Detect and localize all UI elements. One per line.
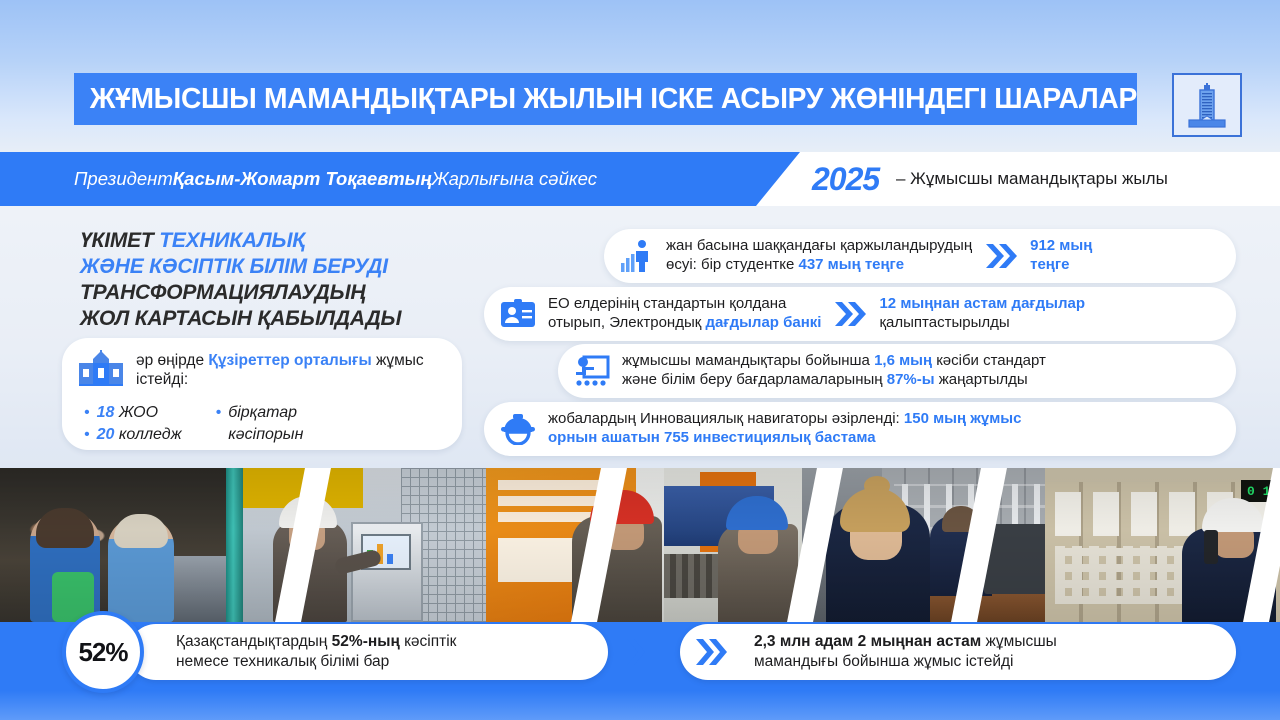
bullet-dot-icon: • — [84, 405, 90, 421]
double-chevron-right-icon — [984, 241, 1018, 271]
list-item: • 18 ЖОО — [84, 403, 182, 423]
bottom-left-a: Қазақстандықтардың — [176, 633, 332, 650]
skills-result: 12 мыңнан астам дағдылар қалыптастырылды — [879, 295, 1085, 333]
standards-text: жұмысшы мамандықтары бойынша 1,6 мың кәс… — [622, 352, 1046, 390]
bottom-right-c: жұмысшы — [981, 633, 1057, 650]
financing-result-bold: 912 мың — [1030, 237, 1092, 254]
heading-line2-highlight: ЖӘНЕ КӘСІПТІК БІЛІМ БЕРУДІ — [80, 255, 388, 278]
double-chevron-right-icon — [612, 636, 646, 668]
heading-line3: ТРАНСФОРМАЦИЯЛАУДЫҢ — [80, 281, 365, 304]
photo-strip: 0 17 — [0, 468, 1280, 622]
header-zone: ЖҰМЫСШЫ МАМАНДЫҚТАРЫ ЖЫЛЫН ІСКЕ АСЫРУ ЖӨ… — [0, 0, 1280, 152]
list-item: • 20 колледж — [84, 425, 182, 445]
infographic-poster: ЖҰМЫСШЫ МАМАНДЫҚТАРЫ ЖЫЛЫН ІСКЕ АСЫРУ ЖӨ… — [0, 0, 1280, 720]
bottom-card-education-share: Қазақстандықтардың 52%-ның кәсіптік неме… — [128, 624, 608, 680]
bottom-card-employment: 2,3 млн адам 2 мыңнан астам жұмысшы мама… — [680, 624, 1236, 680]
competence-centers-list: • 18 ЖОО • 20 колледж • бірқатар • кәсіп… — [78, 403, 444, 446]
double-chevron-right-icon — [694, 636, 728, 668]
subtitle-prefix: Президент — [74, 168, 173, 190]
financing-result-unit: теңге — [1030, 256, 1069, 273]
skills-bank-text: ЕО елдерінің стандартын қолдана отырып, … — [548, 295, 821, 333]
subtitle-president-name: Қасым-Жомарт Тоқаевтың — [173, 168, 432, 190]
standards-line2-c: жаңартылды — [935, 371, 1028, 388]
cc-list-column-right: • бірқатар • кәсіпорын — [216, 403, 304, 446]
cc-item-0-label: ЖОО — [114, 404, 158, 421]
financing-text: жан басына шаққандағы қаржыландырудың өс… — [666, 237, 972, 275]
bottom-left-text: Қазақстандықтардың 52%-ның кәсіптік неме… — [176, 632, 456, 671]
standards-count: 1,6 мың — [874, 352, 932, 369]
list-item: • бірқатар — [216, 403, 304, 423]
bottom-right-count: 2,3 млн адам 2 мыңнан астам — [754, 633, 981, 650]
standards-line1-a: жұмысшы мамандықтары бойынша — [622, 352, 874, 369]
cc-item-3-label: кәсіпорын — [228, 425, 303, 445]
financing-line2: өсуі: бір студентке — [666, 256, 798, 273]
bottom-left-c: кәсіптік — [400, 633, 457, 650]
skills-line1: ЕО елдерінің стандартын қолдана — [548, 295, 786, 312]
hard-hat-icon — [500, 413, 536, 445]
presentation-board-icon — [574, 355, 610, 387]
percent-badge-value: 52% — [78, 637, 127, 668]
bottom-right-text: 2,3 млн адам 2 мыңнан астам жұмысшы мама… — [754, 632, 1057, 671]
photo-factory-women-inspecting — [0, 468, 243, 622]
bullet-dot-icon: • — [216, 405, 222, 421]
standards-percent: 87%-ы — [887, 371, 935, 388]
photo-control-room-man-with-radio: 0 17 — [1045, 468, 1280, 622]
cc-item-1-label: колледж — [114, 426, 181, 443]
id-card-icon — [500, 299, 536, 329]
navigator-line1-a: жобалардың Инновациялық навигаторы әзірл… — [548, 410, 904, 427]
navigator-jobs: 150 мың жұмыс — [904, 410, 1022, 427]
skills-result-plain: қалыптастырылды — [879, 314, 1009, 331]
skills-bank-name: дағдылар банкі — [705, 314, 821, 331]
subtitle-suffix: Жарлығына сәйкес — [432, 168, 597, 190]
cc-text-bold: Құзіреттер орталығы — [208, 352, 371, 369]
navigator-initiatives: орнын ашатын 755 инвестициялық бастама — [548, 429, 876, 446]
financing-result: 912 мың теңге — [1030, 237, 1092, 275]
competence-centers-text: әр өңірде Құзіреттер орталығы жұмыс істе… — [136, 352, 444, 390]
standards-line1-c: кәсіби стандарт — [932, 352, 1046, 369]
stat-card-skills-bank: ЕО елдерінің стандартын қолдана отырып, … — [484, 287, 1236, 341]
page-title: ЖҰМЫСШЫ МАМАНДЫҚТАРЫ ЖЫЛЫН ІСКЕ АСЫРУ ЖӨ… — [74, 83, 1137, 116]
year-label: 2025 — [812, 152, 879, 206]
navigator-text: жобалардың Инновациялық навигаторы әзірл… — [548, 410, 1021, 448]
cc-item-1-value: 20 — [97, 426, 115, 443]
standards-line2-a: және білім беру бағдарламаларының — [622, 371, 887, 388]
stat-card-professional-standards: жұмысшы мамандықтары бойынша 1,6 мың кәс… — [558, 344, 1236, 398]
stat-card-innovation-navigator: жобалардың Инновациялық навигаторы әзірл… — [484, 402, 1236, 456]
title-bar: ЖҰМЫСШЫ МАМАНДЫҚТАРЫ ЖЫЛЫН ІСКЕ АСЫРУ ЖӨ… — [74, 73, 1137, 125]
stat-card-financing: жан басына шаққандағы қаржыландырудың өс… — [604, 229, 1236, 283]
competence-centers-header: әр өңірде Құзіреттер орталығы жұмыс істе… — [78, 350, 444, 391]
year-description: – Жұмысшы мамандықтары жылы — [896, 152, 1168, 206]
cc-item-0-value: 18 — [97, 404, 115, 421]
double-chevron-right-icon — [833, 299, 867, 329]
building-columns-icon — [78, 350, 124, 391]
photo-worker-blue-helmet-machinery — [664, 468, 802, 622]
heading-line1-plain: ҮКІМЕТ — [80, 229, 159, 252]
subtitle-decree-text: Президент Қасым-Жомарт Тоқаевтың Жарлығы… — [74, 152, 597, 206]
bottom-right-d: мамандығы бойынша жұмыс істейді — [754, 653, 1013, 670]
heading-line4: ЖОЛ КАРТАСЫН ҚАБЫЛДАДЫ — [80, 307, 401, 330]
bullet-dot-icon: • — [84, 427, 90, 443]
roadmap-heading: ҮКІМЕТ ТЕХНИКАЛЫҚ ЖӘНЕ КӘСІПТІК БІЛІМ БЕ… — [80, 228, 500, 332]
cc-list-column-left: • 18 ЖОО • 20 колледж — [84, 403, 182, 446]
skills-line2: отырып, Электрондық — [548, 314, 705, 331]
bottom-left-percent: 52%-ның — [332, 633, 400, 650]
list-item: • кәсіпорын — [216, 425, 304, 445]
financing-line1: жан басына шаққандағы қаржыландырудың — [666, 237, 972, 254]
percent-badge: 52% — [62, 611, 144, 693]
heading-line1-highlight: ТЕХНИКАЛЫҚ — [159, 229, 305, 252]
bottom-left-d: немесе техникалық білімі бар — [176, 653, 389, 670]
competence-centers-card: әр өңірде Құзіреттер орталығы жұмыс істе… — [62, 338, 462, 450]
skills-result-bold: 12 мыңнан астам дағдылар — [879, 295, 1085, 312]
cc-text-before: әр өңірде — [136, 352, 208, 369]
financing-amount: 437 мың теңге — [798, 256, 904, 273]
subtitle-band: Президент Қасым-Жомарт Тоқаевтың Жарлығы… — [0, 152, 1280, 206]
cc-item-2-label: бірқатар — [228, 403, 297, 423]
person-bar-chart-icon — [620, 239, 654, 273]
government-building-emblem — [1172, 73, 1242, 137]
